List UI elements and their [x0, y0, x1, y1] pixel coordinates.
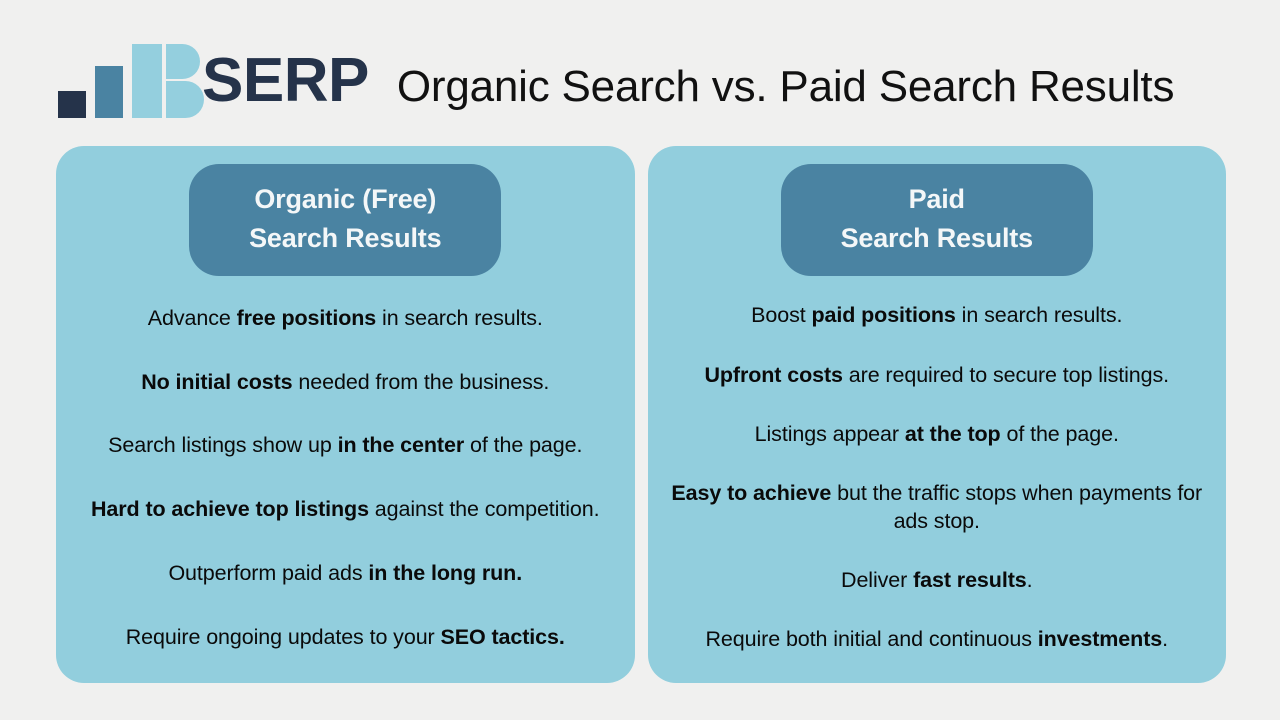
panel-paid-heading-line1: Paid	[815, 180, 1059, 219]
list-item: Require ongoing updates to your SEO tact…	[56, 623, 635, 652]
panel-paid-heading: Paid Search Results	[781, 164, 1093, 276]
logo-b-upper-lobe	[166, 44, 200, 79]
infographic-page: SERP Organic Search vs. Paid Search Resu…	[0, 0, 1280, 720]
list-item: Search listings show up in the center of…	[56, 431, 635, 460]
list-item: Hard to achieve top listings against the…	[56, 495, 635, 524]
list-item: No initial costs needed from the busines…	[56, 368, 635, 397]
logo-bar-tall	[132, 44, 162, 118]
panel-organic: Organic (Free) Search Results Advance fr…	[56, 146, 635, 683]
panel-paid-heading-line2: Search Results	[815, 219, 1059, 258]
list-item: Easy to achieve but the traffic stops wh…	[648, 479, 1227, 536]
list-item: Advance free positions in search results…	[56, 304, 635, 333]
logo-bar-medium	[95, 66, 123, 118]
logo-letter-b-icon	[166, 44, 208, 118]
bar-chart-b-logo-icon	[56, 44, 164, 118]
panel-paid-list: Boost paid positions in search results. …	[648, 276, 1227, 683]
panel-paid: Paid Search Results Boost paid positions…	[648, 146, 1227, 683]
comparison-panels: Organic (Free) Search Results Advance fr…	[56, 146, 1226, 683]
list-item: Outperform paid ads in the long run.	[56, 559, 635, 588]
list-item: Boost paid positions in search results.	[648, 301, 1227, 330]
panel-organic-heading-line1: Organic (Free)	[223, 180, 467, 219]
list-item: Upfront costs are required to secure top…	[648, 361, 1227, 390]
page-title: SERP Organic Search vs. Paid Search Resu…	[202, 50, 1174, 112]
list-item: Deliver fast results.	[648, 566, 1227, 595]
logo-bar-small	[58, 91, 86, 118]
panel-organic-list: Advance free positions in search results…	[56, 276, 635, 683]
title-brand: SERP	[202, 50, 369, 112]
panel-organic-heading-line2: Search Results	[223, 219, 467, 258]
page-header: SERP Organic Search vs. Paid Search Resu…	[56, 36, 1224, 126]
list-item: Listings appear at the top of the page.	[648, 420, 1227, 449]
list-item: Require both initial and continuous inve…	[648, 625, 1227, 654]
title-subtitle: Organic Search vs. Paid Search Results	[397, 65, 1174, 109]
panel-organic-heading: Organic (Free) Search Results	[189, 164, 501, 276]
logo-b-lower-lobe	[166, 81, 204, 118]
